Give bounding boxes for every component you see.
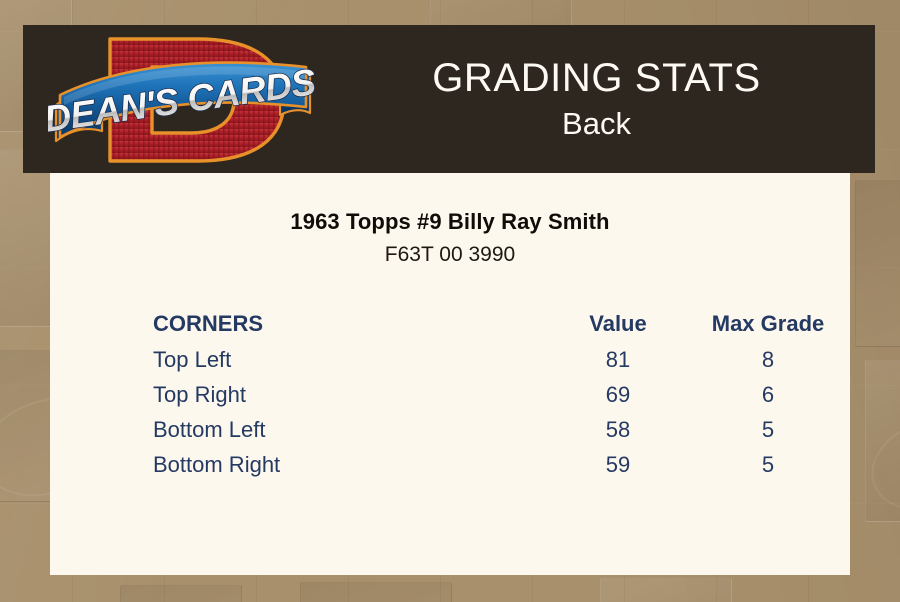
row-label: Bottom Left <box>153 417 543 452</box>
row-value: 59 <box>543 452 693 487</box>
background-card-ghost <box>300 582 452 602</box>
row-max-grade: 8 <box>693 347 843 382</box>
row-value: 69 <box>543 382 693 417</box>
row-value: 58 <box>543 417 693 452</box>
table-row: Bottom Right 59 5 <box>153 452 843 487</box>
column-header-max-grade: Max Grade <box>693 311 843 347</box>
column-header-corners: CORNERS <box>153 311 543 347</box>
table-header-row: CORNERS Value Max Grade <box>153 311 843 347</box>
deans-cards-logo-icon: DEAN'S CARDS <box>48 27 318 173</box>
row-label: Top Right <box>153 382 543 417</box>
row-max-grade: 6 <box>693 382 843 417</box>
row-value: 81 <box>543 347 693 382</box>
row-label: Bottom Right <box>153 452 543 487</box>
page-subtitle: Back <box>562 105 631 143</box>
table-row: Top Right 69 6 <box>153 382 843 417</box>
row-max-grade: 5 <box>693 417 843 452</box>
card-title: 1963 Topps #9 Billy Ray Smith <box>50 209 850 235</box>
grading-stats-table: CORNERS Value Max Grade Top Left 81 8 To… <box>153 311 843 487</box>
content-panel: 1963 Topps #9 Billy Ray Smith F63T 00 39… <box>50 173 850 575</box>
deans-cards-logo[interactable]: DEAN'S CARDS <box>48 27 318 173</box>
table-row: Top Left 81 8 <box>153 347 843 382</box>
table-row: Bottom Left 58 5 <box>153 417 843 452</box>
column-header-value: Value <box>543 311 693 347</box>
page-title: GRADING STATS <box>432 55 761 101</box>
header-titles: GRADING STATS Back <box>318 25 875 173</box>
row-label: Top Left <box>153 347 543 382</box>
background-card-ghost <box>120 585 242 602</box>
background-card-ghost <box>855 180 900 347</box>
header-band: DEAN'S CARDS GRADING STATS Back <box>23 25 875 173</box>
table-header: CORNERS Value Max Grade <box>153 311 843 347</box>
table-body: Top Left 81 8 Top Right 69 6 Bottom Left… <box>153 347 843 487</box>
background-card-ghost <box>600 578 732 602</box>
card-code: F63T 00 3990 <box>50 243 850 267</box>
row-max-grade: 5 <box>693 452 843 487</box>
